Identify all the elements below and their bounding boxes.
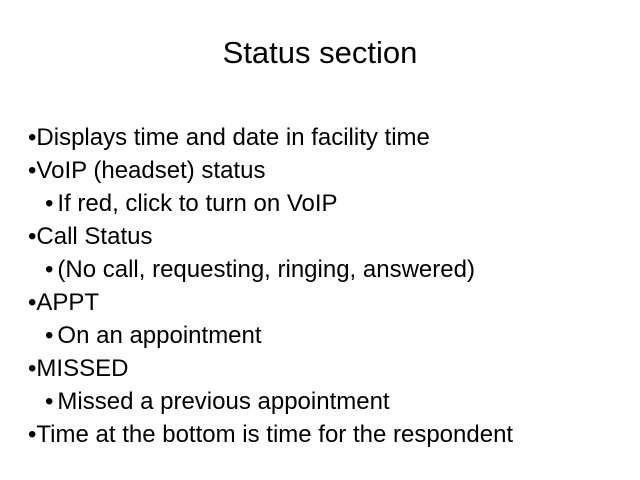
bullet-item: •VoIP (headset) status [28,154,628,187]
bullet-item: •APPT [28,286,628,319]
bullet-item: •(No call, requesting, ringing, answered… [45,253,628,286]
bullet-item-label: Displays time and date in facility time [36,124,430,151]
slide: Status section •Displays time and date i… [0,0,640,480]
bullet-item-label: MISSED [36,355,128,382]
bullet-item-label: APPT [36,289,99,316]
bullet-list: •Displays time and date in facility time… [28,121,628,451]
bullet-point-icon: • [45,385,53,418]
bullet-item-label: Missed a previous appointment [57,388,389,415]
bullet-point-icon: • [45,253,53,286]
bullet-item-label: On an appointment [57,322,261,349]
bullet-item: •On an appointment [45,319,628,352]
bullet-item-label: Time at the bottom is time for the respo… [36,421,513,448]
bullet-point-icon: • [45,319,53,352]
bullet-item-label: Call Status [36,223,152,250]
bullet-item: •If red, click to turn on VoIP [45,187,628,220]
bullet-item: •Call Status [28,220,628,253]
bullet-item: •Missed a previous appointment [45,385,628,418]
bullet-item-label: (No call, requesting, ringing, answered) [57,256,475,283]
bullet-item-label: If red, click to turn on VoIP [57,190,337,217]
bullet-item: •MISSED [28,352,628,385]
bullet-item-label: VoIP (headset) status [36,157,265,184]
page-title: Status section [0,34,640,72]
bullet-item: •Displays time and date in facility time [28,121,628,154]
bullet-point-icon: • [45,187,53,220]
bullet-item: •Time at the bottom is time for the resp… [28,418,628,451]
